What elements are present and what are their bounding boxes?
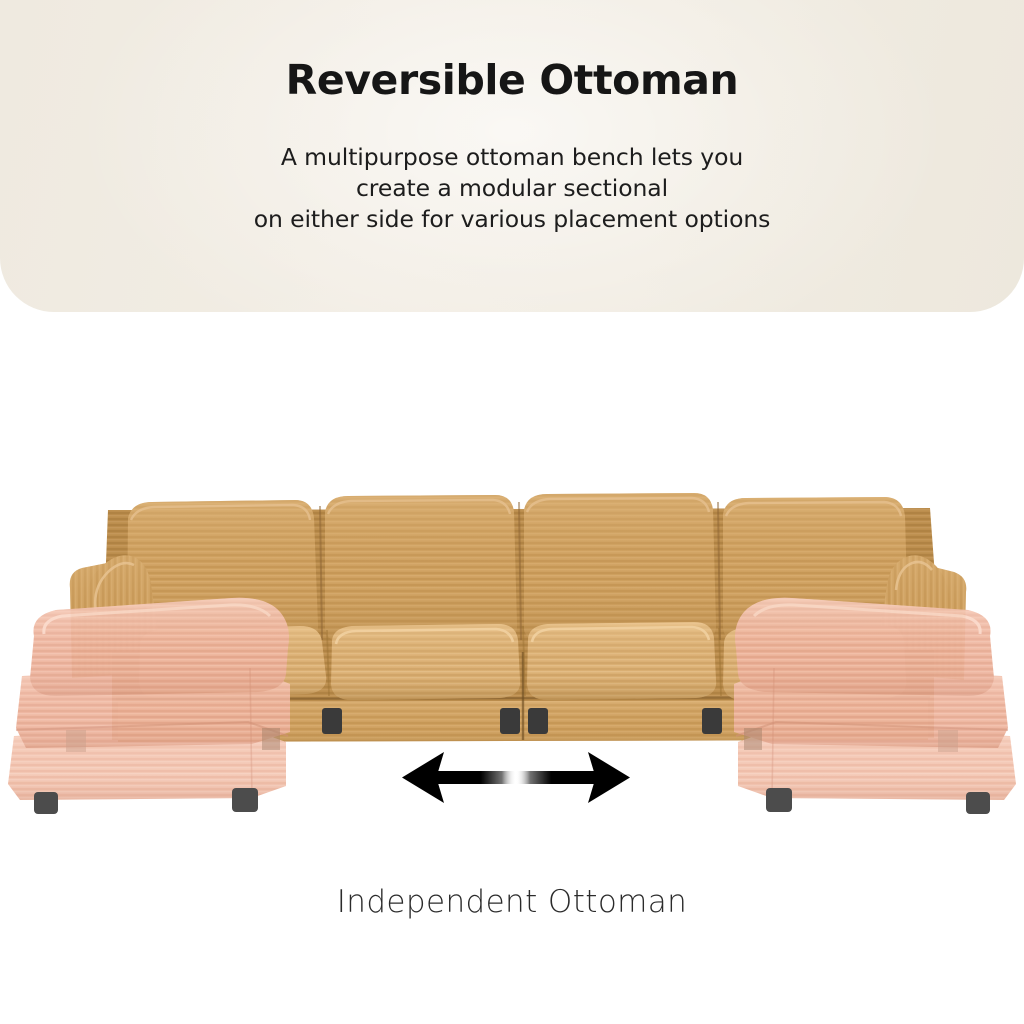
arrow-head-left (402, 752, 444, 803)
product-infographic-canvas: Reversible Ottoman A multipurpose ottoma… (0, 0, 1024, 1024)
ottoman-left-joint-1 (66, 730, 86, 752)
caption-label: Independent Ottoman (0, 884, 1024, 920)
subtitle-line-2: create a modular sectional (0, 173, 1024, 204)
arrow-head-right (588, 752, 630, 803)
ottoman-left (8, 598, 290, 814)
ottoman-left-foot-1 (34, 792, 58, 814)
sofa-foot-4 (702, 708, 722, 734)
sofa-foot-2 (500, 708, 520, 734)
sofa-foot-1 (322, 708, 342, 734)
ottoman-right-foot-2 (766, 788, 792, 812)
subtitle-line-1: A multipurpose ottoman bench lets you (0, 142, 1024, 173)
ottoman-right (734, 598, 1016, 814)
banner-subtitle: A multipurpose ottoman bench lets you cr… (0, 142, 1024, 235)
bidirectional-placement-arrow (400, 746, 632, 810)
ottoman-right-joint-2 (744, 728, 762, 750)
ottoman-right-foot-1 (966, 792, 990, 814)
ottoman-left-foot-2 (232, 788, 258, 812)
ottoman-right-joint-1 (938, 730, 958, 752)
subtitle-line-3: on either side for various placement opt… (0, 204, 1024, 235)
header-banner: Reversible Ottoman A multipurpose ottoma… (0, 0, 1024, 312)
arrow-shaft (428, 771, 604, 784)
sofa-foot-3 (528, 708, 548, 734)
page-title: Reversible Ottoman (0, 60, 1024, 101)
ottoman-left-joint-2 (262, 728, 280, 750)
